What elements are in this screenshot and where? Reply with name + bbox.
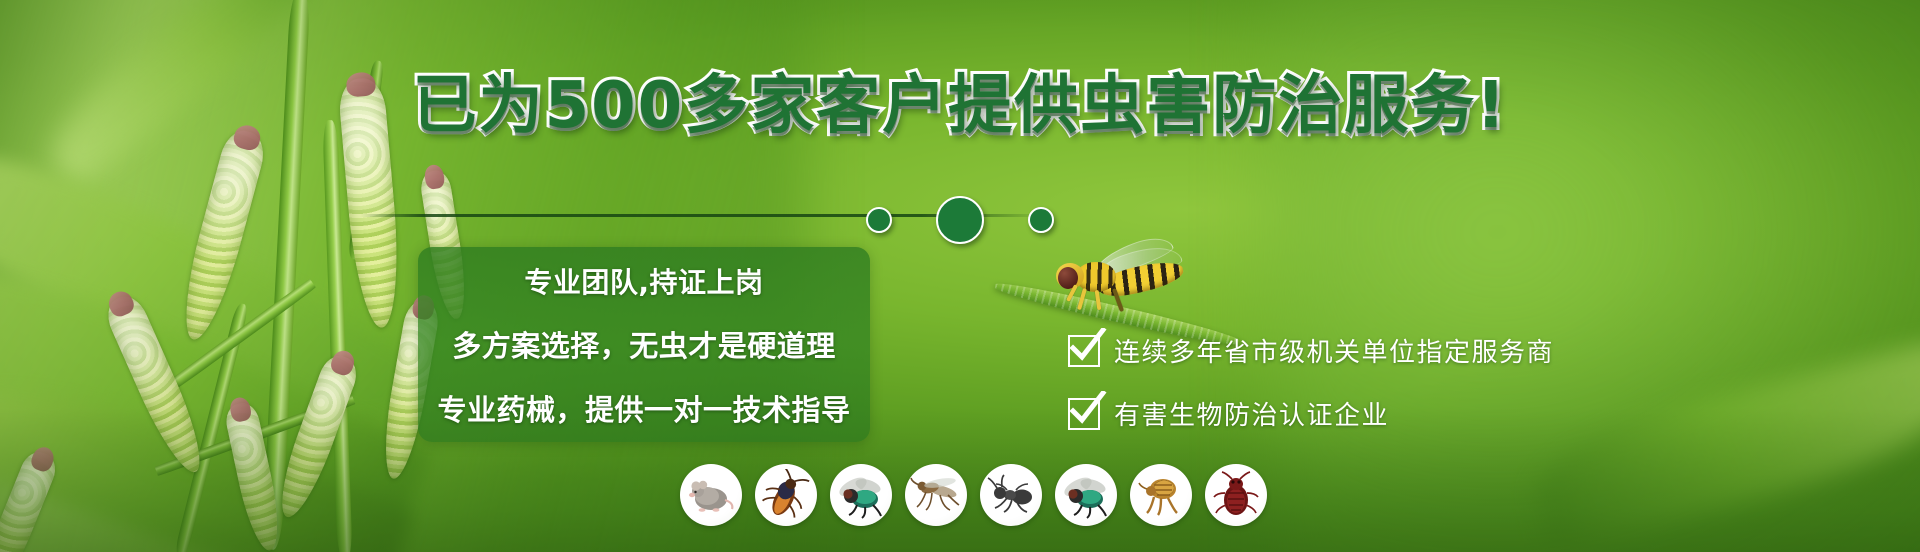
selling-point-line-3: 专业药械，提供一对一技术指导 <box>418 387 870 429</box>
fly-icon <box>830 464 892 526</box>
bedbug-icon <box>1205 464 1267 526</box>
mouse-icon <box>680 464 742 526</box>
decorative-dot-large <box>936 196 984 244</box>
credential-item: 连续多年省市级机关单位指定服务商 <box>1068 332 1554 369</box>
hoverfly-leg <box>1095 290 1102 310</box>
selling-points-text: 专业团队,持证上岗 多方案选择，无虫才是硬道理 专业药械，提供一对一技术指导 <box>418 247 870 442</box>
selling-point-line-1: 专业团队,持证上岗 <box>418 261 870 301</box>
hoverfly-leg <box>1077 288 1087 310</box>
hoverfly-head <box>1056 263 1084 289</box>
credentials-list: 连续多年省市级机关单位指定服务商 有害生物防治认证企业 <box>1068 332 1554 432</box>
mosquito-icon <box>905 464 967 526</box>
cockroach-icon <box>755 464 817 526</box>
flea-icon <box>1130 464 1192 526</box>
fly-icon <box>1055 464 1117 526</box>
credential-label: 连续多年省市级机关单位指定服务商 <box>1114 332 1554 369</box>
credential-item: 有害生物防治认证企业 <box>1068 395 1554 432</box>
selling-point-line-2: 多方案选择，无虫才是硬道理 <box>418 323 870 365</box>
checkbox-check-icon <box>1068 398 1100 430</box>
decorative-dots <box>0 196 1920 244</box>
decorative-dot-small <box>866 207 892 233</box>
pest-icon-row <box>680 464 1267 526</box>
hoverfly-icon <box>1050 248 1180 310</box>
pest-control-hero-banner: 已为500多家客户提供虫害防治服务! 专业团队,持证上岗 多方案选择，无虫才是硬… <box>0 0 1920 552</box>
ant-icon <box>980 464 1042 526</box>
checkbox-check-icon <box>1068 335 1100 367</box>
credential-label: 有害生物防治认证企业 <box>1114 395 1389 432</box>
